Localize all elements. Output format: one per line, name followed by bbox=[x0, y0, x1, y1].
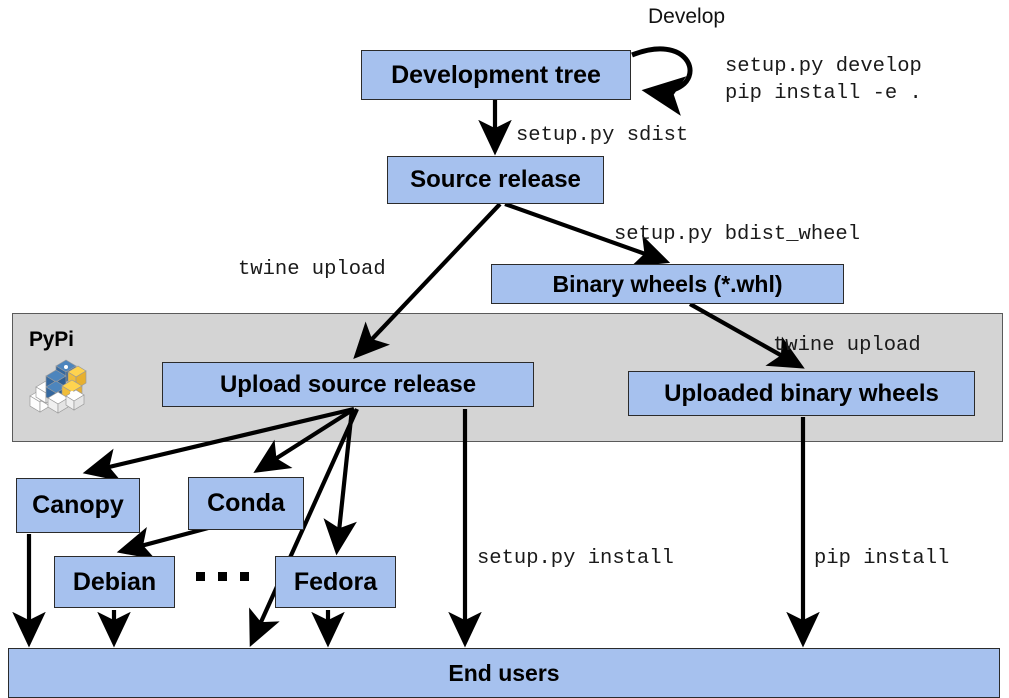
node-development-tree[interactable]: Development tree bbox=[361, 50, 631, 100]
label-develop-commands: setup.py develop pip install -e . bbox=[725, 53, 922, 107]
ellipsis-dot bbox=[196, 572, 205, 581]
node-binary-wheels[interactable]: Binary wheels (*.whl) bbox=[491, 264, 844, 304]
node-fedora[interactable]: Fedora bbox=[275, 556, 396, 608]
pypi-logo-icon bbox=[26, 356, 90, 416]
ellipsis-dot bbox=[240, 572, 249, 581]
label-pip-install: pip install bbox=[814, 545, 949, 572]
node-debian[interactable]: Debian bbox=[54, 556, 175, 608]
node-uploaded-binary-wheels[interactable]: Uploaded binary wheels bbox=[628, 371, 975, 416]
node-conda[interactable]: Conda bbox=[188, 477, 304, 530]
node-canopy[interactable]: Canopy bbox=[16, 478, 140, 533]
label-twine-upload-wheels: twine upload bbox=[773, 332, 921, 359]
label-setup-py-bdist-wheel: setup.py bdist_wheel bbox=[614, 221, 860, 248]
ellipsis-dot bbox=[218, 572, 227, 581]
node-source-release[interactable]: Source release bbox=[387, 156, 604, 204]
label-twine-upload-source: twine upload bbox=[238, 256, 386, 283]
pypi-region-label: PyPi bbox=[29, 328, 74, 352]
node-upload-source-release[interactable]: Upload source release bbox=[162, 362, 534, 407]
label-setup-py-sdist: setup.py sdist bbox=[516, 122, 688, 149]
node-end-users[interactable]: End users bbox=[8, 648, 1000, 698]
diagram-canvas: PyPi bbox=[0, 0, 1009, 698]
ellipsis-indicator bbox=[196, 572, 249, 581]
label-develop: Develop bbox=[648, 5, 725, 29]
label-setup-py-install: setup.py install bbox=[477, 545, 674, 572]
